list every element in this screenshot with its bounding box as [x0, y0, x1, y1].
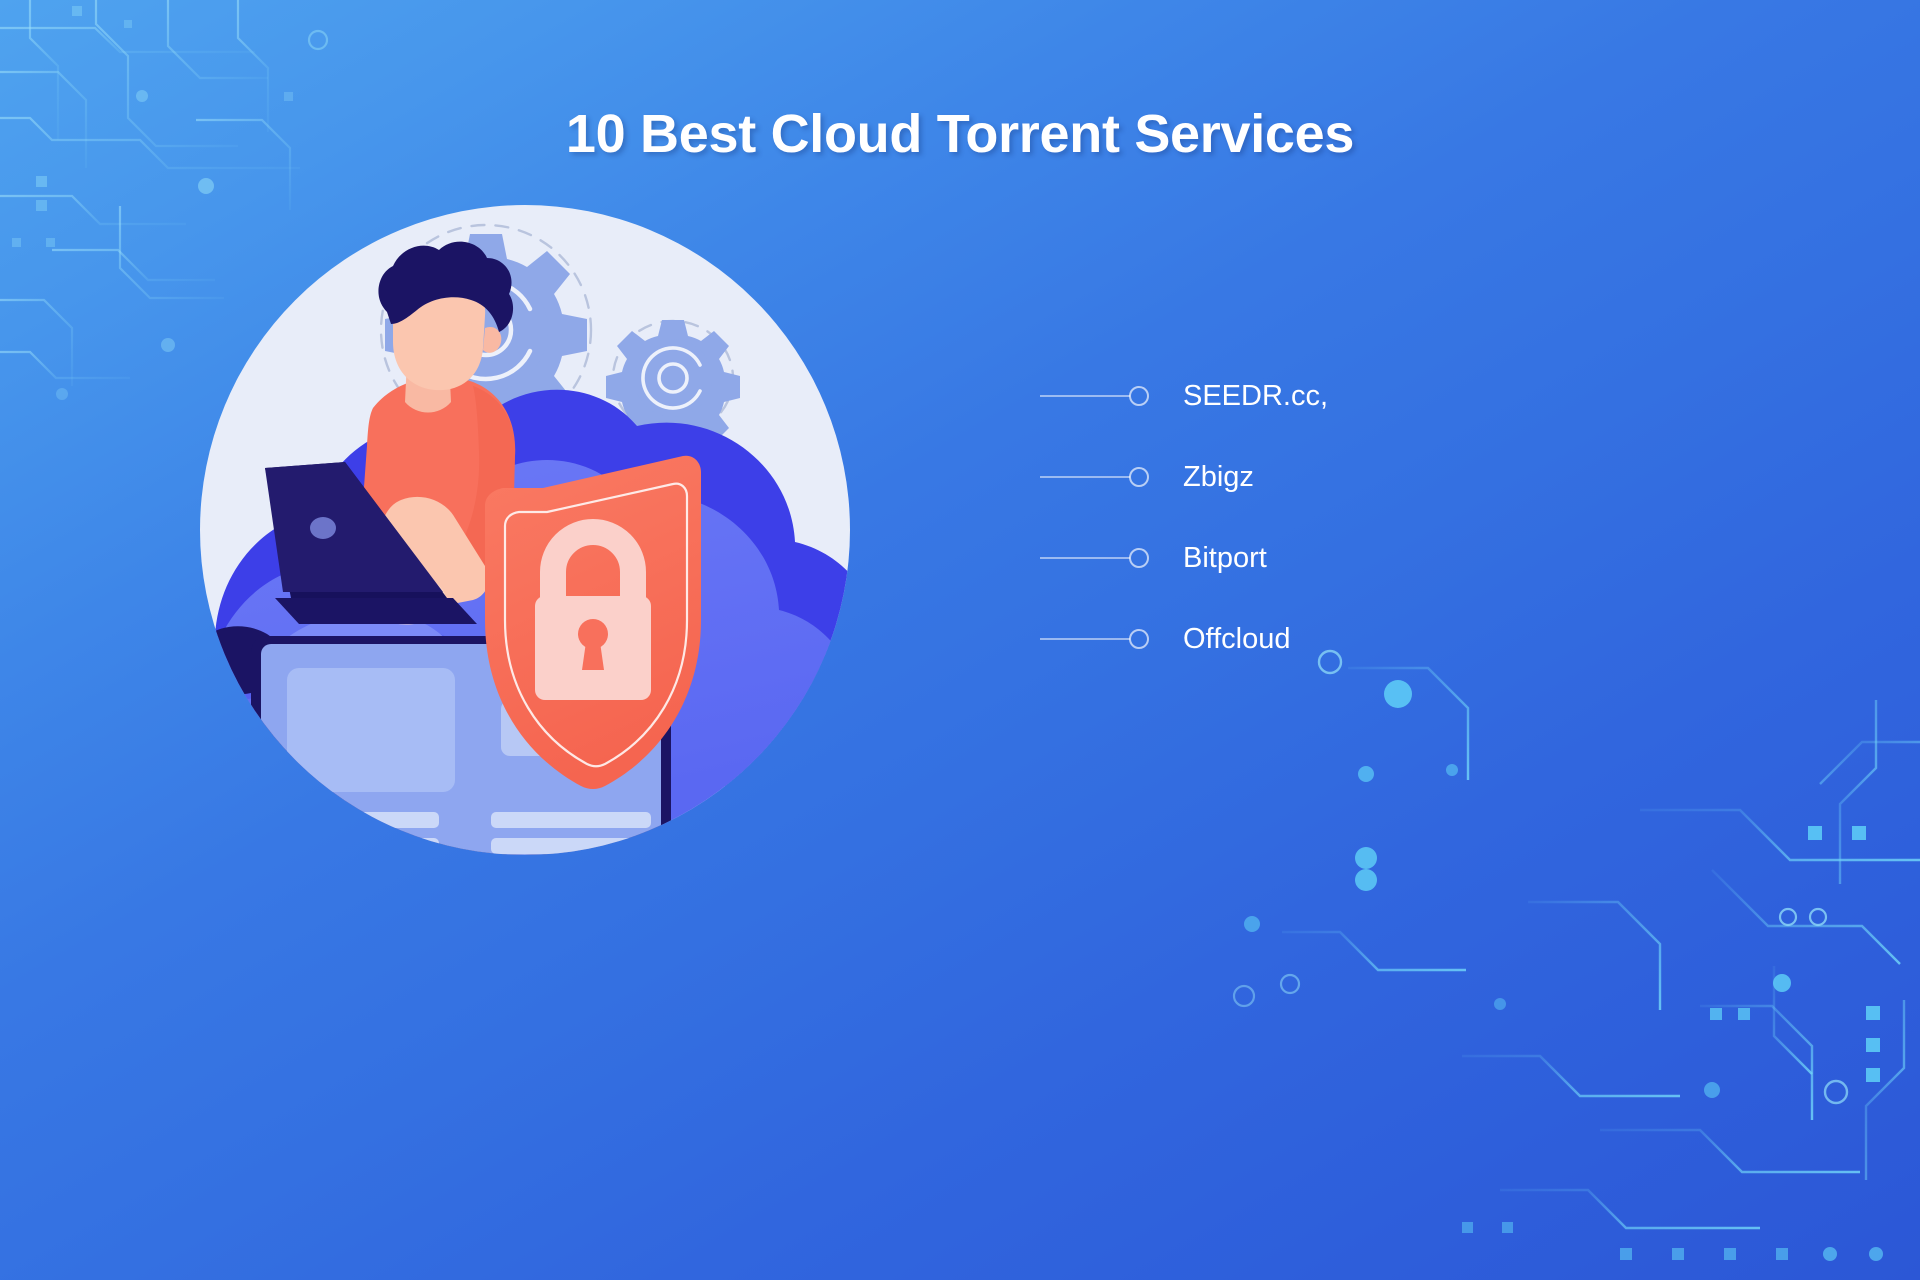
callout-connector-line	[1040, 476, 1130, 478]
laptop-logo	[310, 517, 336, 539]
bottom-right-circuit-nodes	[1234, 651, 1883, 1261]
callout-item[interactable]: Bitport	[1040, 542, 1267, 574]
callout-item[interactable]: SEEDR.cc,	[1040, 380, 1328, 412]
infographic-canvas: 10 Best Cloud Torrent Services	[0, 0, 1920, 1280]
card-panel	[287, 668, 455, 792]
cloud-security-illustration	[195, 200, 895, 900]
page-title: 10 Best Cloud Torrent Services	[0, 103, 1920, 165]
card-bar	[287, 864, 397, 878]
callout-node-circle[interactable]	[1129, 386, 1149, 406]
callout-connector-line	[1040, 395, 1130, 397]
callout-node-circle[interactable]	[1129, 467, 1149, 487]
card-bar	[287, 812, 439, 828]
callout-list: SEEDR.cc, Zbigz Bitport Offcloud	[1040, 380, 1600, 700]
callout-node-circle[interactable]	[1129, 548, 1149, 568]
callout-connector-line	[1040, 638, 1130, 640]
callout-label-seedr: SEEDR.cc,	[1183, 380, 1328, 413]
callout-label-zbigz: Zbigz	[1183, 461, 1254, 494]
callout-label-offcloud: Offcloud	[1183, 623, 1290, 656]
card-bar	[287, 838, 439, 854]
bottom-right-circuit	[1282, 668, 1920, 1228]
callout-item[interactable]: Offcloud	[1040, 623, 1290, 655]
callout-connector-line	[1040, 557, 1130, 559]
card-bar	[491, 838, 651, 854]
callout-label-bitport: Bitport	[1183, 542, 1267, 575]
card-bar	[491, 812, 651, 828]
callout-node-circle[interactable]	[1129, 629, 1149, 649]
callout-item[interactable]: Zbigz	[1040, 461, 1254, 493]
laptop-base	[275, 598, 477, 624]
